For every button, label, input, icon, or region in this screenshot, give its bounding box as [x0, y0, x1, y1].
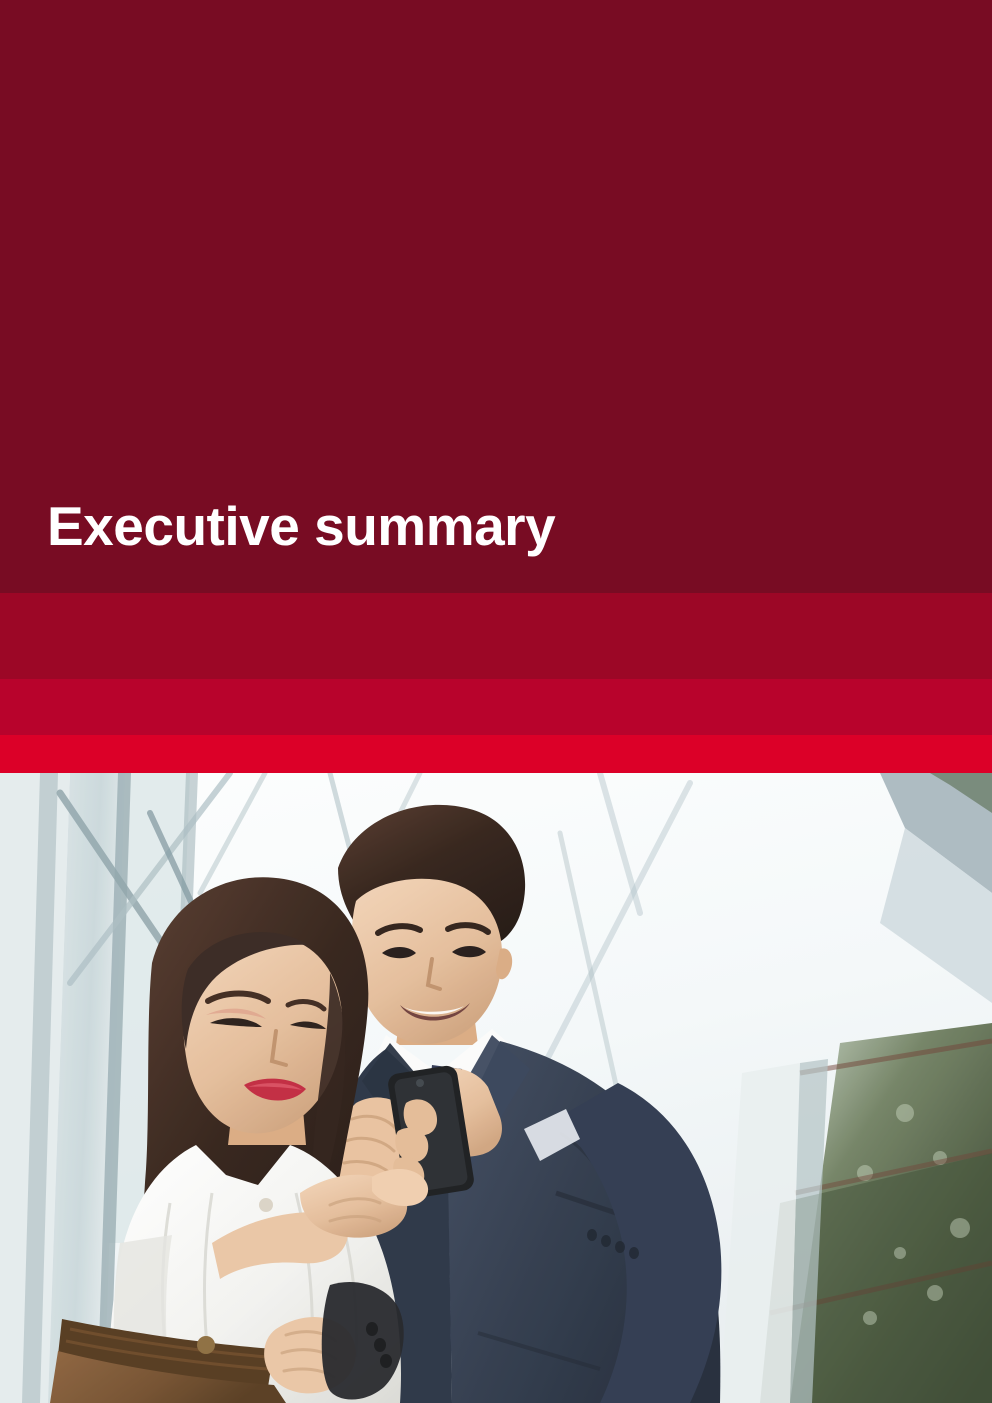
photo-haze-overlay [0, 773, 992, 1403]
color-band-red [0, 679, 992, 735]
page-title: Executive summary [47, 498, 555, 556]
report-cover-page: Executive summary [0, 0, 992, 1403]
color-band-crimson [0, 593, 992, 679]
cover-photograph-illustration [0, 773, 992, 1403]
color-band-scarlet [0, 735, 992, 773]
cover-photograph [0, 773, 992, 1403]
